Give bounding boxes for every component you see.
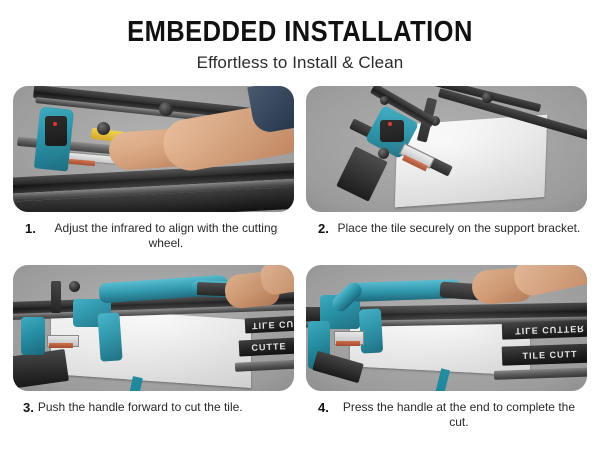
scale-marker (336, 341, 360, 346)
scale-marker (49, 343, 73, 348)
laser-indicator-light (388, 122, 392, 126)
page-subtitle: Effortless to Install & Clean (0, 53, 600, 73)
rail-knob (69, 281, 80, 292)
step-image-4: TILE CUTTER TILE CUTT (306, 265, 587, 391)
cutter-head-window (45, 116, 67, 146)
product-label-text: TILE CUTT (522, 349, 577, 361)
photo-scene-3: TILE CU CUTTE (13, 265, 294, 391)
step-caption-2: 2. Place the tile securely on the suppor… (306, 212, 587, 254)
photo-scene-4: TILE CUTTER TILE CUTT (306, 265, 587, 391)
step-image-1 (13, 86, 294, 212)
rail-riser (51, 281, 61, 313)
adjust-knob-rear (159, 102, 173, 116)
product-label-text: CUTTE (251, 341, 286, 353)
step-text-3: Push the handle forward to cut the tile. (38, 400, 288, 415)
step-card-1: 1. Adjust the infrared to align with the… (13, 86, 294, 254)
stand-leg (435, 368, 450, 391)
photo-scene-1 (13, 86, 294, 212)
step-text-1: Adjust the infrared to align with the cu… (44, 221, 288, 251)
product-label-reflection-text: TILE CUTTER (515, 323, 585, 335)
head-lock-knob (378, 148, 389, 159)
cutter-head-rear (21, 317, 45, 355)
photo-scene-2 (306, 86, 587, 212)
product-label-reflection: TILE CU (245, 316, 294, 334)
laser-indicator-light (53, 122, 57, 126)
product-label-reflection: TILE CUTTER (502, 319, 587, 339)
step-image-2 (306, 86, 587, 212)
step-number-2: 2. (318, 221, 337, 236)
step-number-4: 4. (318, 400, 337, 415)
product-label-reflection-text: TILE CU (252, 318, 294, 330)
step-text-4: Press the handle at the end to complete … (337, 400, 581, 430)
cutter-foot (97, 312, 122, 361)
step-image-3: TILE CU CUTTE (13, 265, 294, 391)
bracket-knob-right (482, 92, 493, 103)
step-card-2: 2. Place the tile securely on the suppor… (306, 86, 587, 254)
product-label: TILE CUTT (502, 343, 587, 365)
step-caption-1: 1. Adjust the infrared to align with the… (13, 212, 294, 254)
step-card-4: TILE CUTTER TILE CUTT 4. Press the handl… (306, 265, 587, 433)
page-title: EMBEDDED INSTALLATION (36, 16, 564, 48)
header: EMBEDDED INSTALLATION Effortless to Inst… (0, 0, 600, 73)
step-caption-3: 3. Push the handle forward to cut the ti… (13, 391, 294, 433)
scale-marker (69, 159, 95, 166)
step-caption-4: 4. Press the handle at the end to comple… (306, 391, 587, 433)
step-number-1: 1. (25, 221, 44, 236)
step-text-2: Place the tile securely on the support b… (337, 221, 581, 236)
step-card-3: TILE CU CUTTE 3. Push the handle forward… (13, 265, 294, 433)
product-label: CUTTE (239, 337, 294, 356)
adjust-knob-front (97, 122, 110, 135)
step-number-3: 3. (23, 400, 38, 415)
head-top-knob (380, 96, 389, 105)
cutter-head-window (380, 120, 404, 142)
steps-grid: 1. Adjust the infrared to align with the… (13, 86, 587, 433)
